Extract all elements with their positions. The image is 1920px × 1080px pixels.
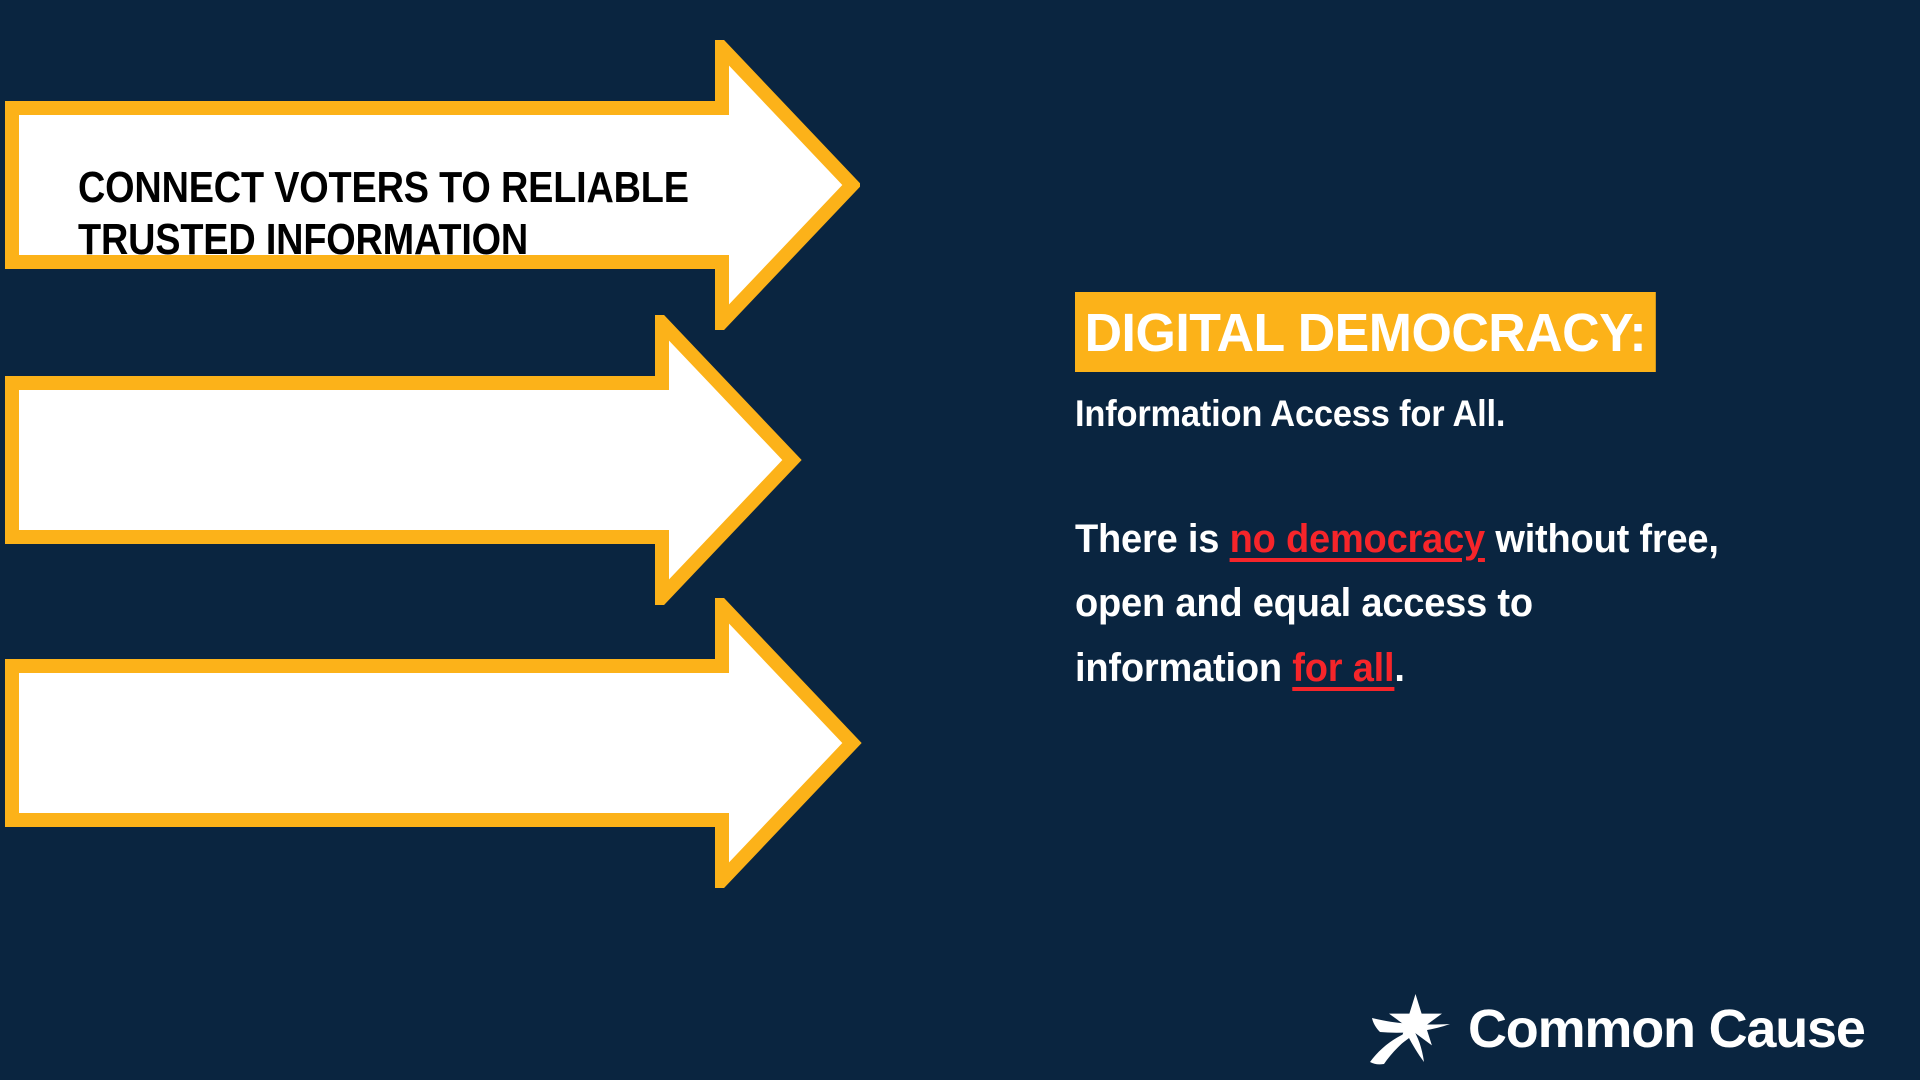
arrow-shape-3 [0,598,870,888]
panel-headline: DIGITAL DEMOCRACY: [1075,292,1656,372]
body-highlight-no-democracy: no democracy [1230,517,1485,561]
callout-arrow-access-share: ACCESS AND SHARE DIVERSE VOICES AND PERS… [0,315,810,605]
slide-canvas: CONNECT VOTERS TO RELIABLE TRUSTED INFOR… [0,0,1920,1080]
panel-subheadline: Information Access for All. [1075,394,1828,435]
arrow-shape-2 [0,315,810,605]
swoosh-star-icon [1368,992,1454,1066]
callout-label-connect-voters: CONNECT VOTERS TO RELIABLE TRUSTED INFOR… [78,162,689,266]
message-panel: DIGITAL DEMOCRACY: Information Access fo… [1075,292,1885,701]
common-cause-logo: Common Cause [1368,992,1865,1066]
body-highlight-for-all: for all [1292,646,1394,690]
callout-arrow-get-engaged: GET CIVICALLY ENGAGED USING THE INTERNET… [0,598,870,888]
logo-wordmark: Common Cause [1468,1002,1865,1056]
panel-body-paragraph: There is no democracy without free, open… [1075,507,1740,701]
callout-arrow-connect-voters: CONNECT VOTERS TO RELIABLE TRUSTED INFOR… [0,40,860,330]
body-text-part-3: . [1394,646,1404,690]
body-text-part-1: There is [1075,517,1230,561]
